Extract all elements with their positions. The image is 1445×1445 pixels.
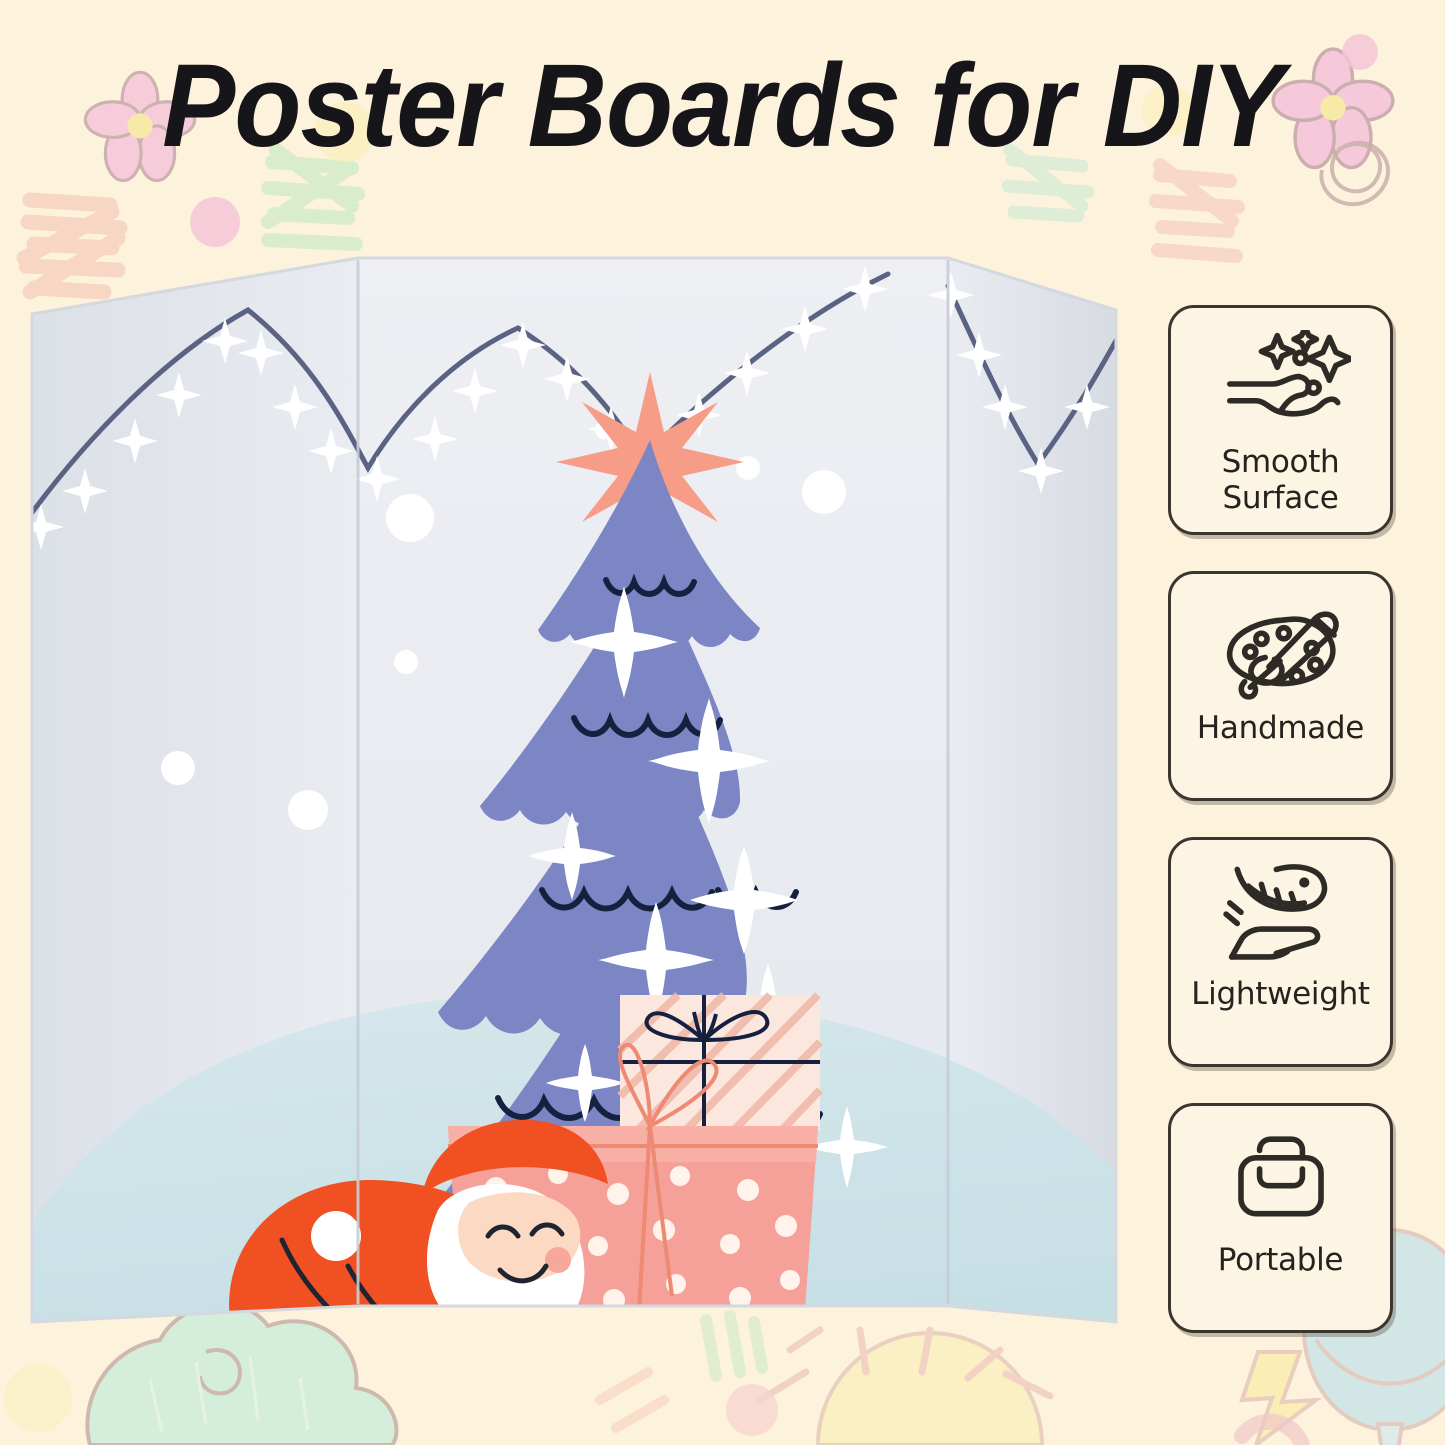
santa-arm <box>458 1309 556 1335</box>
sparkle-hand-icon <box>1211 330 1351 438</box>
feature-badge-label: Smooth Surface <box>1222 444 1340 517</box>
feature-badge-list: Smooth Surface <box>1168 305 1393 1333</box>
feature-badge-label: Handmade <box>1197 710 1364 746</box>
poster-board <box>18 258 1138 1335</box>
feature-badge-label: Portable <box>1218 1242 1343 1278</box>
dot-doodle-pink-top <box>190 197 240 247</box>
page-title: Poster Boards for DIY <box>51 38 1395 174</box>
feature-badge-lightweight[interactable]: Lightweight <box>1168 837 1393 1067</box>
gift-box-squiggle <box>776 1324 904 1335</box>
listing-image: Poster Boards for DIY <box>0 0 1445 1445</box>
blob-doodle-yellow-bottomleft <box>4 1364 72 1432</box>
crescent-doodle-bottomright <box>1242 1422 1302 1445</box>
dot-doodle-pink-bottom <box>726 1384 778 1436</box>
santa-hat-pompom <box>311 1211 361 1261</box>
feature-badge-handmade[interactable]: Handmade <box>1168 571 1393 801</box>
feature-badge-label: Lightweight <box>1191 976 1370 1012</box>
santa-cheek <box>545 1247 571 1273</box>
scribble-doodle-coral-topright <box>1156 165 1238 256</box>
paint-palette-icon <box>1211 596 1351 704</box>
briefcase-icon <box>1211 1128 1351 1236</box>
product-image <box>18 250 1138 1335</box>
bolt-doodle-bottomright <box>1242 1352 1316 1445</box>
scribble-doodle-coral-bottomleft <box>600 1372 664 1428</box>
feature-badge-smooth-surface[interactable]: Smooth Surface <box>1168 305 1393 535</box>
feather-hand-icon <box>1211 862 1351 970</box>
feature-badge-portable[interactable]: Portable <box>1168 1103 1393 1333</box>
sun-doodle-bottom <box>760 1330 1050 1445</box>
